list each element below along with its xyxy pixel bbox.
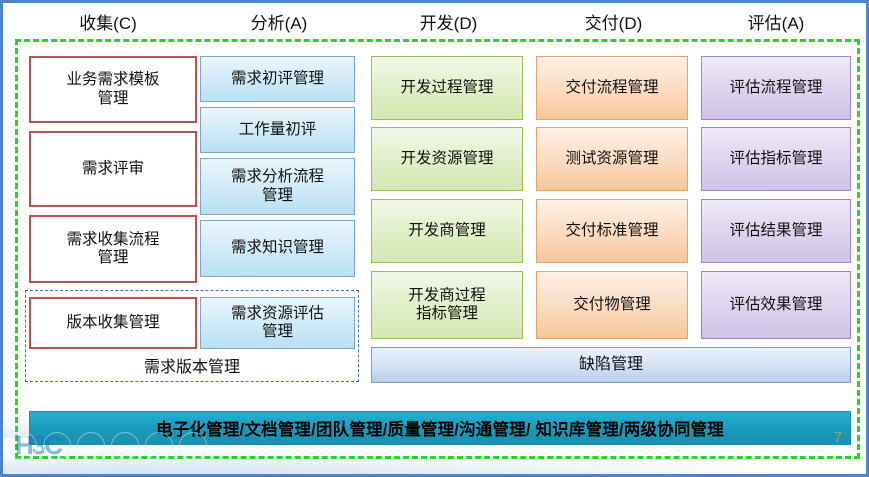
column-header-collect: 收集(C) (23, 9, 193, 34)
column-header-develop: 开发(D) (371, 9, 526, 34)
column-header-deliver: 交付(D) (536, 9, 691, 34)
card-analyze-2[interactable]: 工作量初评 (200, 107, 355, 153)
card-develop-2[interactable]: 开发资源管理 (371, 127, 523, 191)
platform-capabilities-bar: 电子化管理/文档管理/团队管理/质量管理/沟通管理/ 知识库管理/两级协同管理 (29, 411, 851, 445)
slide-canvas: 收集(C) 分析(A) 开发(D) 交付(D) 评估(A) 业务需求模板 管理 … (0, 0, 869, 477)
card-collect-1[interactable]: 业务需求模板 管理 (29, 56, 197, 123)
card-analyze-5[interactable]: 需求资源评估 管理 (200, 297, 355, 349)
card-assess-1[interactable]: 评估流程管理 (701, 56, 851, 120)
card-develop-3[interactable]: 开发商管理 (371, 199, 523, 263)
column-header-assess: 评估(A) (701, 9, 851, 34)
page-number: 7 (834, 429, 842, 446)
card-analyze-4[interactable]: 需求知识管理 (200, 220, 355, 277)
column-header-analyze: 分析(A) (199, 9, 359, 34)
card-deliver-1[interactable]: 交付流程管理 (536, 56, 688, 120)
card-develop-1[interactable]: 开发过程管理 (371, 56, 523, 120)
card-analyze-1[interactable]: 需求初评管理 (200, 56, 355, 102)
card-assess-4[interactable]: 评估效果管理 (701, 271, 851, 339)
card-deliver-3[interactable]: 交付标准管理 (536, 199, 688, 263)
card-collect-4[interactable]: 版本收集管理 (29, 297, 197, 349)
card-develop-4[interactable]: 开发商过程 指标管理 (371, 271, 523, 339)
card-deliver-4[interactable]: 交付物管理 (536, 271, 688, 339)
card-collect-3[interactable]: 需求收集流程 管理 (29, 215, 197, 283)
version-management-label: 需求版本管理 (29, 351, 355, 379)
card-analyze-3[interactable]: 需求分析流程 管理 (200, 158, 355, 215)
card-assess-3[interactable]: 评估结果管理 (701, 199, 851, 263)
card-assess-2[interactable]: 评估指标管理 (701, 127, 851, 191)
card-defect-management[interactable]: 缺陷管理 (371, 347, 851, 383)
card-collect-2[interactable]: 需求评审 (29, 131, 197, 207)
card-deliver-2[interactable]: 测试资源管理 (536, 127, 688, 191)
